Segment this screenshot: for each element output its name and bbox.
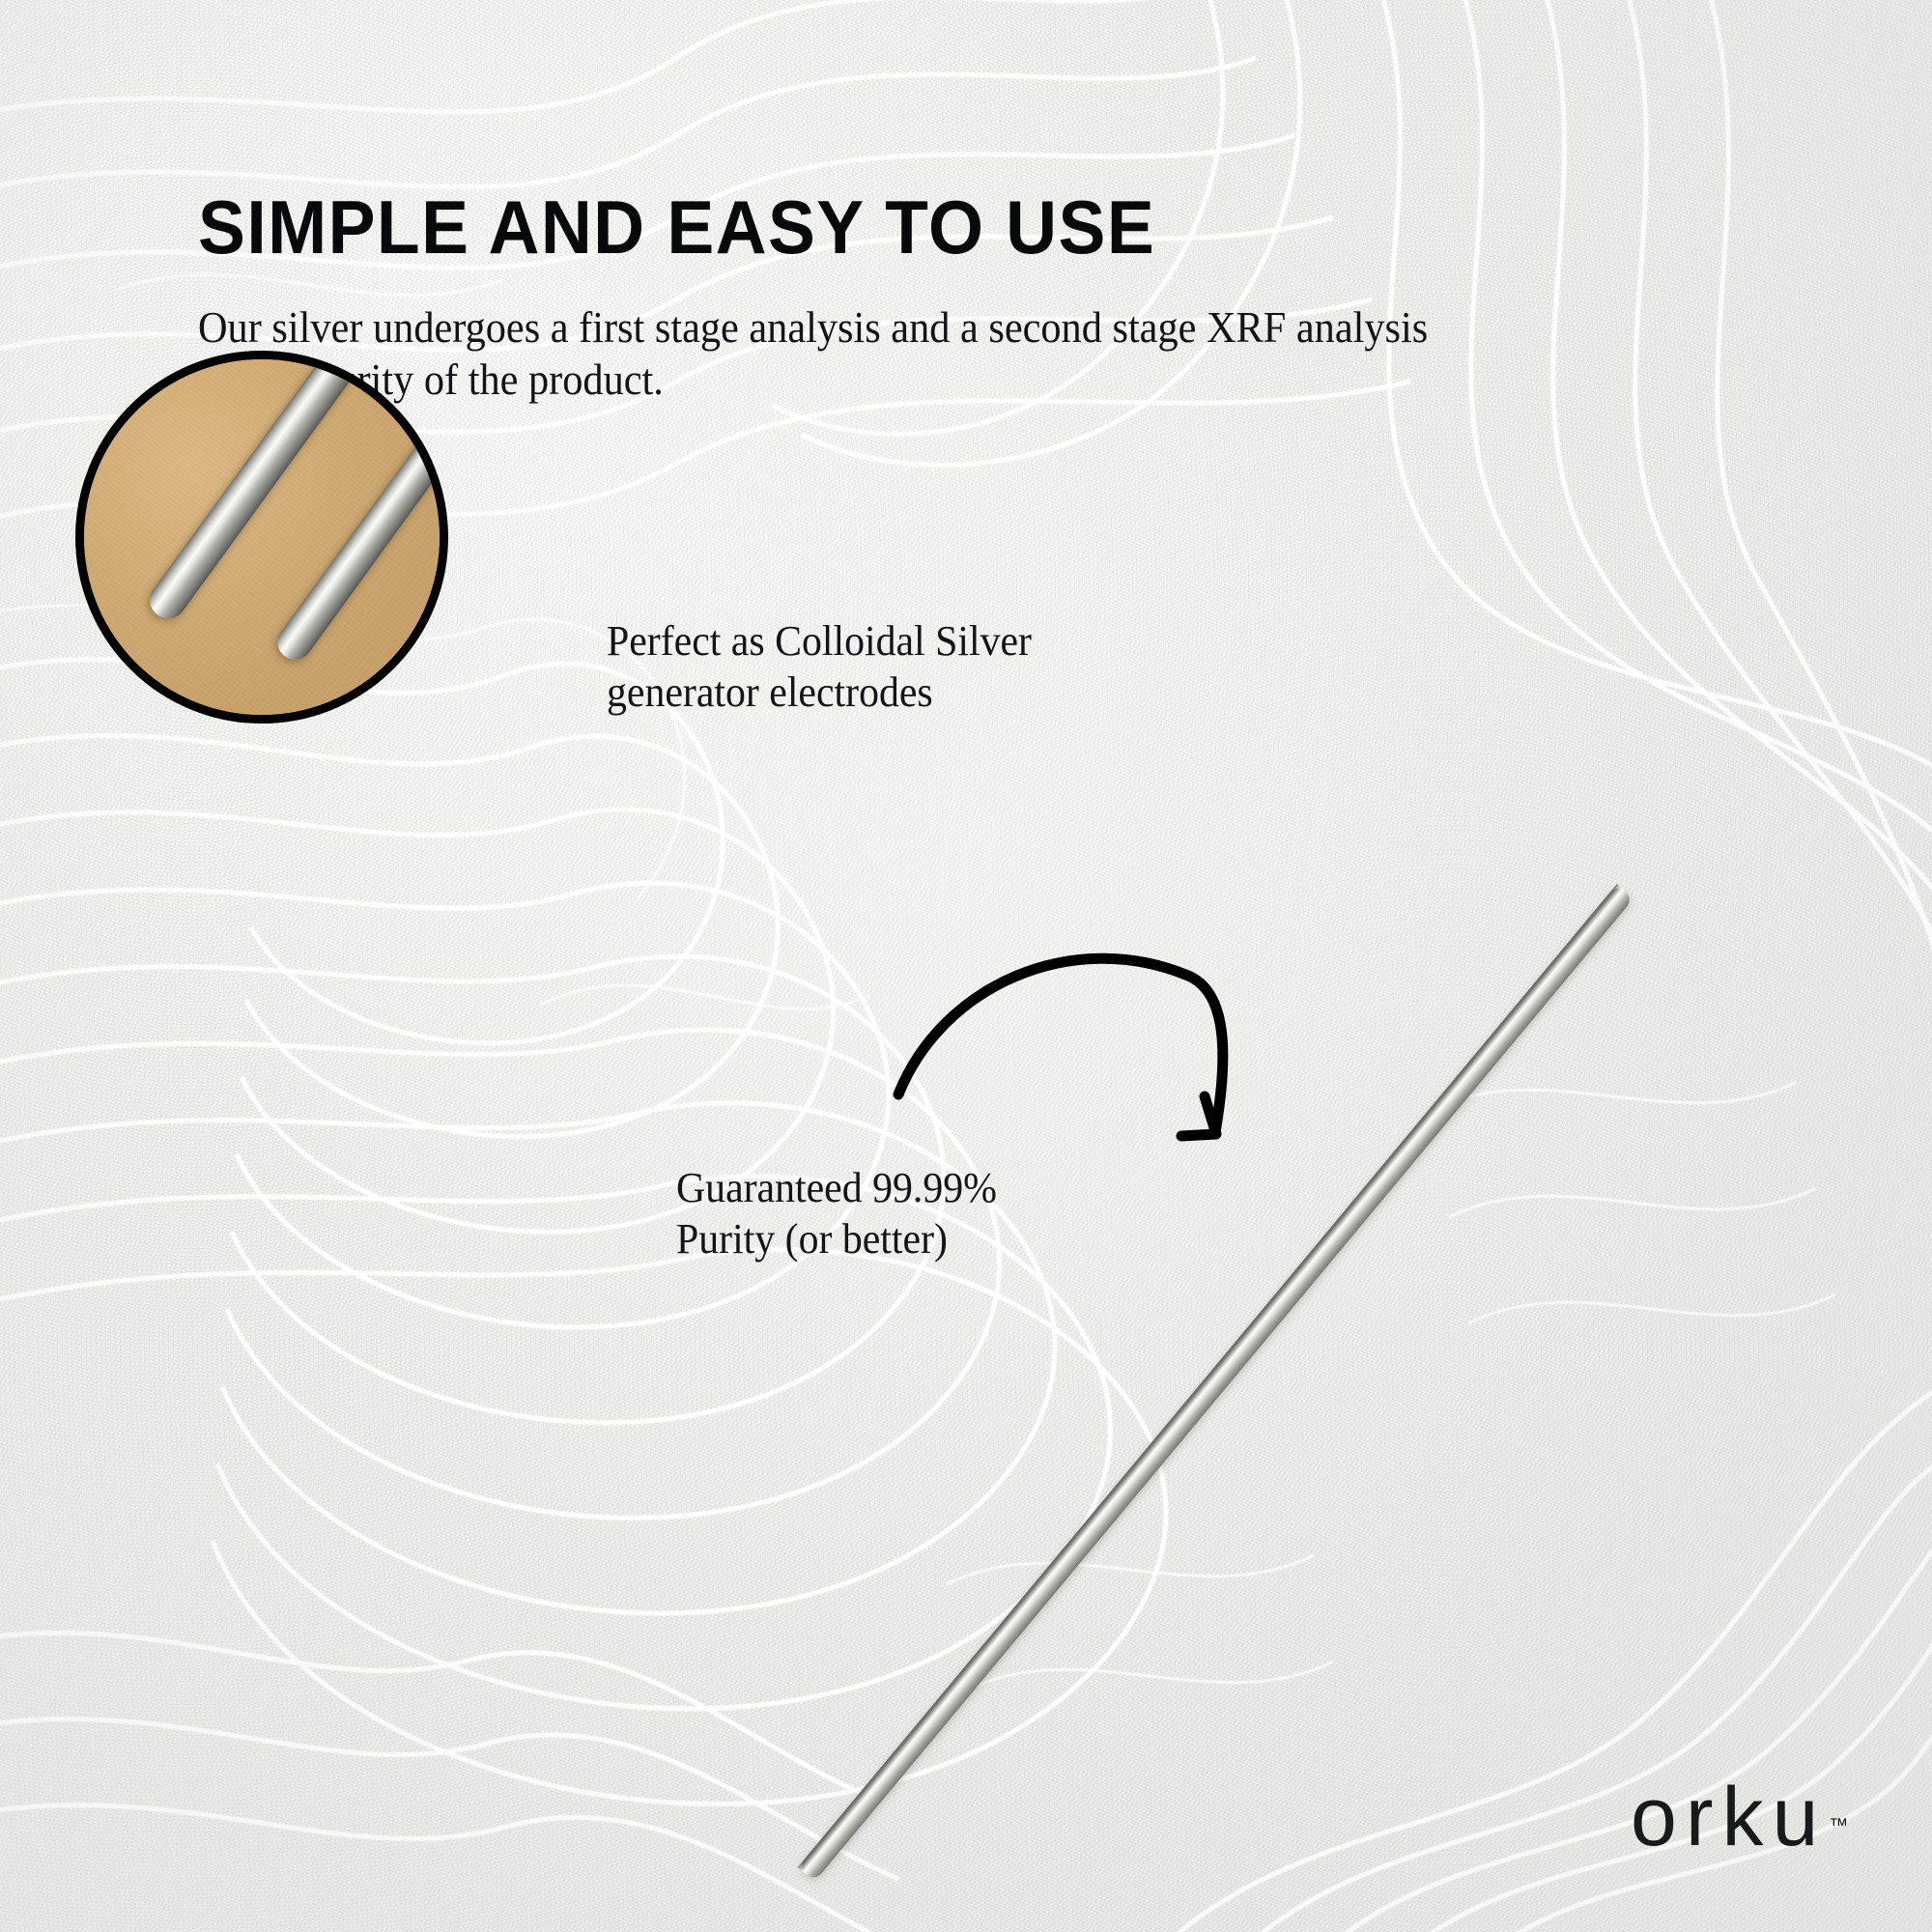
callout-purity-line-2: Purity (or better)	[676, 1214, 997, 1265]
brand-logo-text: orku	[1631, 1771, 1827, 1863]
trademark-symbol: ™	[1829, 1815, 1848, 1836]
callout-purity: Guaranteed 99.99% Purity (or better)	[676, 1163, 997, 1265]
curved-arrow-icon	[0, 0, 1932, 1932]
product-infographic: SIMPLE AND EASY TO USE Our silver underg…	[0, 0, 1932, 1932]
callout-purity-line-1: Guaranteed 99.99%	[676, 1163, 997, 1214]
brand-logo: orku™	[1631, 1776, 1848, 1859]
